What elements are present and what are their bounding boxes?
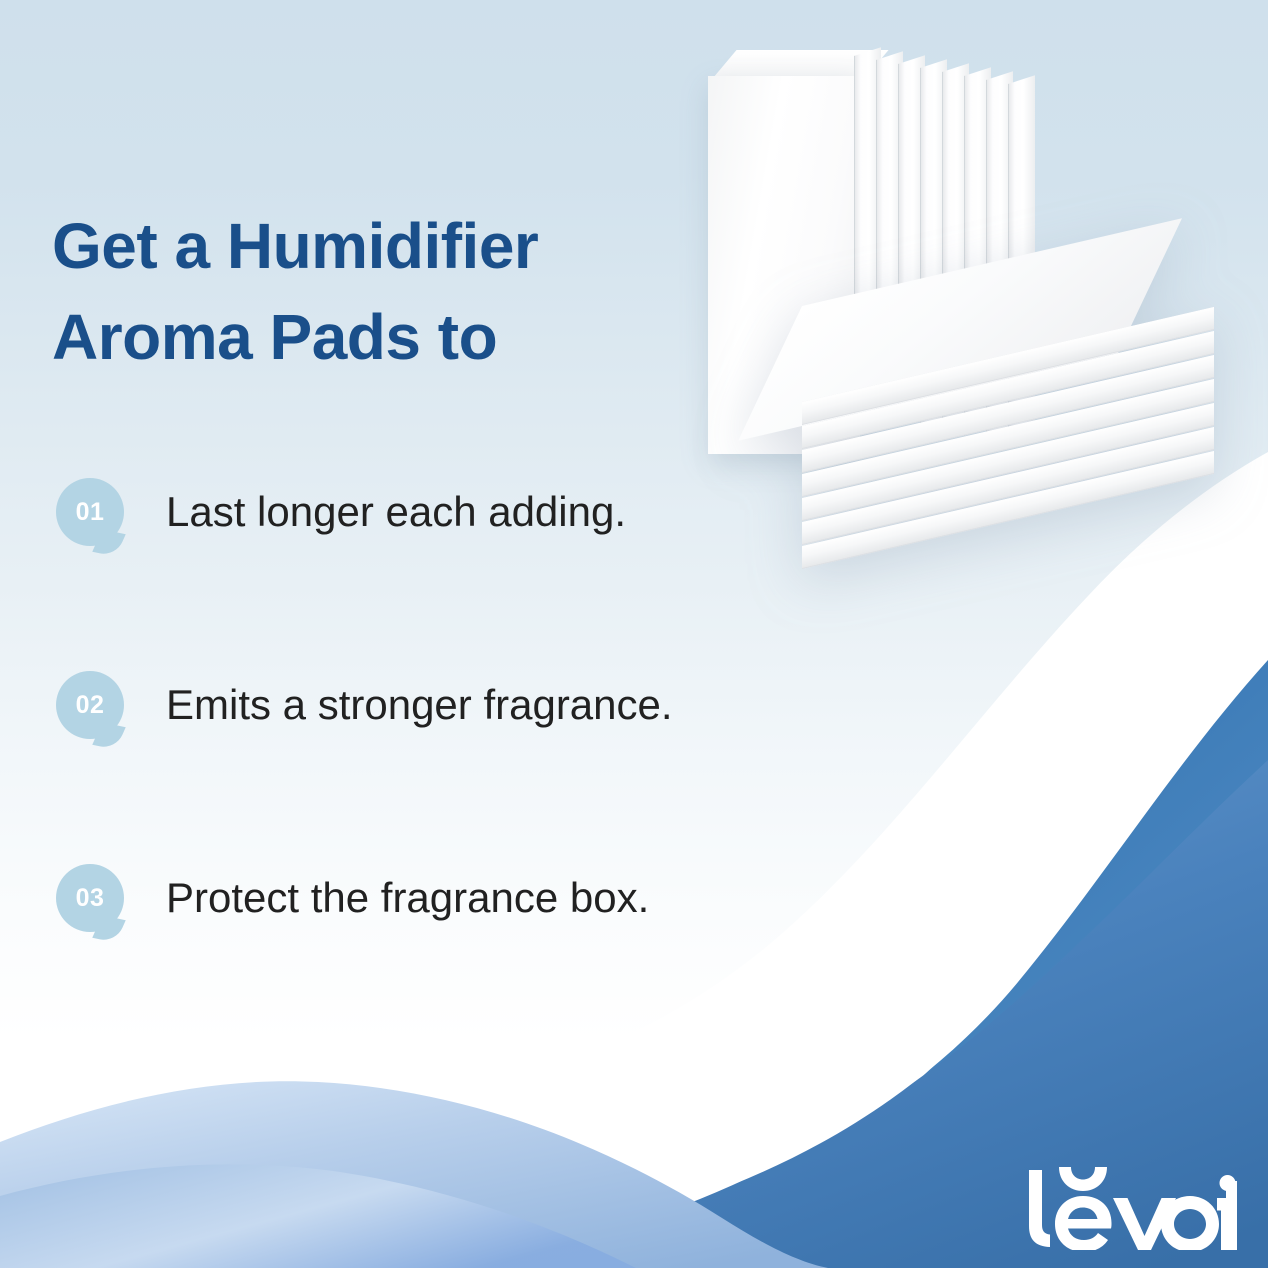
- feature-list: 01 Last longer each adding. 02 Emits a s…: [56, 472, 796, 938]
- marketing-banner: Get a Humidifier Aroma Pads to 01 Last l…: [0, 0, 1268, 1268]
- pad-stack-horizontal: [802, 306, 1252, 636]
- feature-badge-01: 01: [56, 478, 124, 546]
- badge-number: 03: [76, 884, 105, 913]
- headline-line-2: Aroma Pads to: [52, 292, 692, 383]
- feature-text-02: Emits a stronger fragrance.: [166, 682, 673, 728]
- feature-text-01: Last longer each adding.: [166, 489, 626, 535]
- list-item: 02 Emits a stronger fragrance.: [56, 665, 796, 745]
- badge-number: 02: [76, 691, 105, 720]
- feature-badge-03: 03: [56, 864, 124, 932]
- wave-soft-bottom: [0, 1164, 636, 1268]
- list-item: 03 Protect the fragrance box.: [56, 858, 796, 938]
- badge-number: 01: [76, 498, 105, 527]
- levoit-logo: [1022, 1158, 1237, 1250]
- headline-line-1: Get a Humidifier: [52, 201, 692, 292]
- wave-pale-left: [0, 1081, 828, 1268]
- list-item: 01 Last longer each adding.: [56, 472, 796, 552]
- pad-layer-group: [802, 402, 1222, 612]
- page-title: Get a Humidifier Aroma Pads to: [52, 201, 692, 383]
- feature-text-03: Protect the fragrance box.: [166, 875, 649, 921]
- feature-badge-02: 02: [56, 671, 124, 739]
